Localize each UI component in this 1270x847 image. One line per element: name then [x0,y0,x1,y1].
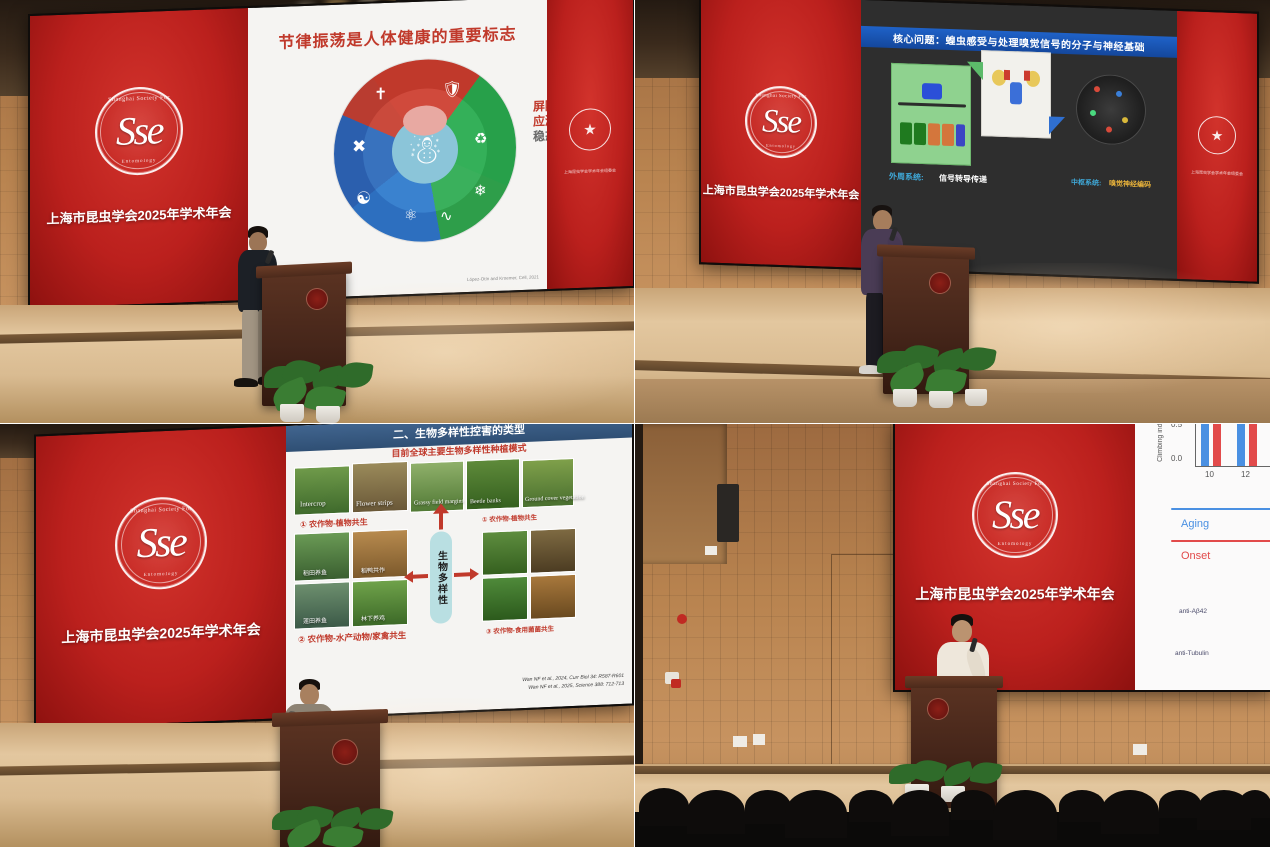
arrow-blue-icon [1049,116,1065,135]
chart-y-tick-0-0: 0.0 [1171,454,1182,463]
sse-logo-ring-bottom: Entomology [974,542,1056,547]
organization-seal-icon: ★ [569,108,611,152]
podium-emblem [929,272,951,294]
head [952,620,972,642]
caption-central-text: 嗅觉神经编码 [1109,179,1151,190]
sponsor-caption: 上海昆虫学会学术年会组委会 [1191,169,1243,177]
slide-credit: López-Otín and Kroemer, Cell, 2021 [467,274,539,282]
conference-title: 上海市昆虫学会2025年学术年会 [915,584,1114,604]
presentation-slide: Climbing index 0.5 0.0 10 12 Aging Onset [1135,424,1270,690]
caption-crop-mushroom: ③ 农作物-食用菌菌共生 [486,623,554,636]
organization-seal-icon: ★ [1198,116,1236,155]
photo-right-1 [482,530,528,576]
sse-logo-ring-top: Shanghai Society For [974,481,1056,487]
conference-banner-left: Shanghai Society For Sse Entomology 上海市昆… [701,0,861,268]
red-keypoint-1: 屏障完整 [533,98,547,115]
legend-label-aging: Aging [1181,518,1209,530]
chart-y-tick-0-5: 0.5 [1171,424,1182,429]
photo-label: Flower strips [356,499,393,509]
collage-panel-bottom-left[interactable]: Shanghai Society For Sse Entomology 上海市昆… [0,424,634,847]
molecule-icon: ⚛ [404,208,417,223]
head [249,232,267,252]
conference-banner-left: Shanghai Society For Sse Entomology 上海市昆… [36,426,286,728]
stage-plant-group [258,360,378,423]
chart-x-axis [1195,466,1270,467]
wall-outlet [733,736,747,747]
chart-y-axis-label: Climbing index [1157,424,1164,462]
collage-panel-top-right[interactable]: Shanghai Society For Sse Entomology 上海市昆… [635,0,1270,423]
chart-x-tick-12: 12 [1241,470,1250,479]
arrow-right-icon [470,568,479,580]
photo-right-3 [482,576,528,622]
photo-rice-fish: 稻田养鱼 [294,531,350,581]
collage-panel-bottom-right[interactable]: Shanghai Society For Sse Entomology 上海市昆… [635,424,1270,847]
sse-logo: Shanghai Society For Sse Entomology [745,85,817,160]
chart-bar-onset-10 [1213,424,1221,466]
photo-intercrop: Intercrop [294,465,350,515]
chart-bar-aging-12 [1237,424,1245,466]
podium-top-surface [272,709,388,727]
chart-bar-aging-10 [1201,424,1209,466]
shoe-left [234,378,258,387]
biodiversity-center-label: 生物多样性 [430,531,452,624]
arrow-up-stem [439,511,443,529]
chart-bar-onset-12 [1249,424,1257,466]
arrow-left-stem [412,574,428,579]
fire-alarm-icon [677,614,687,624]
blot-label-tubulin: anti-Tubulin [1175,650,1209,657]
podium-top-surface [905,676,1003,688]
leg-left [242,310,259,382]
photo-flower-strips: Flower strips [352,461,408,513]
photo-right-4 [530,574,576,620]
photo-label: 稻田养鱼 [303,567,327,577]
arrow-left-icon [404,571,413,583]
red-keypoint-2: 应激适度 [533,113,547,130]
wall-outlet-3 [1133,744,1147,755]
recycle-icon: ♻ [474,131,487,146]
legend-rule-aging [1171,508,1270,510]
center-label-text: 生物多样性 [434,550,449,606]
vitruvian-man-icon: ☃ [407,130,443,171]
stage-plant-group [873,345,1003,410]
chart-x-tick-10: 10 [1205,470,1214,479]
sponsor-band: ★ 上海昆虫学会学术年会组委会 [1177,11,1257,282]
photo-ground-cover-vegetation: Ground cover vegetation [522,458,574,508]
circadian-health-wheel: ☃ ✝ 🛡 ✖ ♻ ☯ ❄ ⚛ ∿ [334,56,516,245]
presentation-slide: 节律振荡是人体健康的重要标志 ☃ ✝ 🛡 ✖ ♻ ☯ ❄ ⚛ ∿ [248,0,547,300]
stage-plant-group [268,806,398,847]
caption-crop-plant-symbiosis-right: ① 农作物-植物共生 [482,511,537,523]
arrow-up-icon [433,503,449,514]
arrow-green-icon [967,62,983,81]
sponsor-caption: 上海昆虫学会学术年会组委会 [564,168,616,176]
chart-y-axis [1195,424,1196,466]
sse-logo: Shanghai Society For Sse Entomology [115,495,207,591]
red-keypoint-3: 稳态维持 [533,128,547,145]
sse-logo: Shanghai Society For Sse Entomology [95,85,183,176]
head [300,684,319,705]
photo-right-2 [530,528,576,574]
slide-title: 节律振荡是人体健康的重要标志 [248,19,547,54]
presentation-slide: 二、生物多样性控害的类型 目前全球主要生物多样性种植模式 Intercrop F… [286,424,632,718]
photo-label: Ground cover vegetation [525,494,585,503]
photo-label: Beetle banks [470,498,501,505]
shield-icon: 🛡 [442,82,462,99]
snowflake-icon: ❄ [474,183,487,198]
blot-label-abeta42: anti-Aβ42 [1179,608,1207,615]
photo-lotus-fish: 莲田养鱼 [294,581,350,629]
legend-rule-onset [1171,540,1270,542]
slide-citations: Wan NF et al., 2024, Curr Biol 34: R587-… [522,673,624,692]
wall-sensor [705,546,717,555]
caption-peripheral-key: 外周系统: [889,171,924,183]
photo-label: 稻鸭共作 [361,565,385,575]
legend-label-onset: Onset [1181,550,1210,562]
wall-outlet-2 [753,734,765,745]
caption-central-key: 中枢系统: [1071,177,1101,188]
fire-call-point-icon [671,679,681,688]
podium-emblem [927,698,949,720]
photo-label: 莲田养鱼 [303,615,327,625]
led-screen[interactable]: Shanghai Society For Sse Entomology 上海市昆… [699,0,1259,284]
or-orco-schematic-panel [891,63,971,166]
podium-emblem [306,288,328,310]
photo-label: Intercrop [300,499,326,508]
sse-logo: Shanghai Society For Sse Entomology [972,472,1058,558]
collage-panel-top-left[interactable]: Shanghai Society For Sse Entomology 上海市昆… [0,0,634,423]
waveform-icon: ∿ [440,209,453,224]
conference-banner-left: Shanghai Society For Sse Entomology 上海市昆… [895,424,1135,690]
yinyang-icon: ☯ [356,190,371,208]
wall-soffit [635,424,727,564]
photo-collage: Shanghai Society For Sse Entomology 上海市昆… [0,0,1270,847]
sponsor-band: ★ 上海昆虫学会学术年会组委会 [547,0,633,289]
podium-top-surface [877,244,975,259]
syringe-icon: ✝ [374,87,387,103]
photo-forest-chicken: 林下养鸡 [352,579,408,627]
climbing-index-chart: Climbing index 0.5 0.0 10 12 [1159,424,1270,482]
wall-speaker-box [717,484,739,542]
antennal-lobe-image [1076,73,1146,145]
photo-rice-duck: 稻鸭共作 [352,529,408,579]
caption-crop-aquatic-poultry: ② 农作物-水产动物/家禽共生 [298,629,406,646]
locust-head-diagram-panel [981,50,1051,138]
conference-title: 上海市昆虫学会2025年学术年会 [703,181,859,202]
podium-emblem [332,739,358,765]
cutlery-icon: ✖ [352,138,366,156]
photo-beetle-banks: Beetle banks [466,458,520,510]
caption-crop-plant-symbiosis: ① 农作物-植物共生 [300,517,368,531]
conference-banner-left: Shanghai Society For Sse Entomology 上海市昆… [30,8,248,308]
conference-title: 上海市昆虫学会2025年学术年会 [47,201,232,227]
slide-red-keypoints: 屏障完整 应激适度 稳态维持 [533,98,547,145]
conference-title: 上海市昆虫学会2025年学术年会 [61,619,260,647]
caption-peripheral-text: 信号转导传递 [939,173,987,186]
head [873,210,892,231]
arrow-right-stem [454,572,470,577]
photo-label: 林下养鸡 [361,613,385,623]
